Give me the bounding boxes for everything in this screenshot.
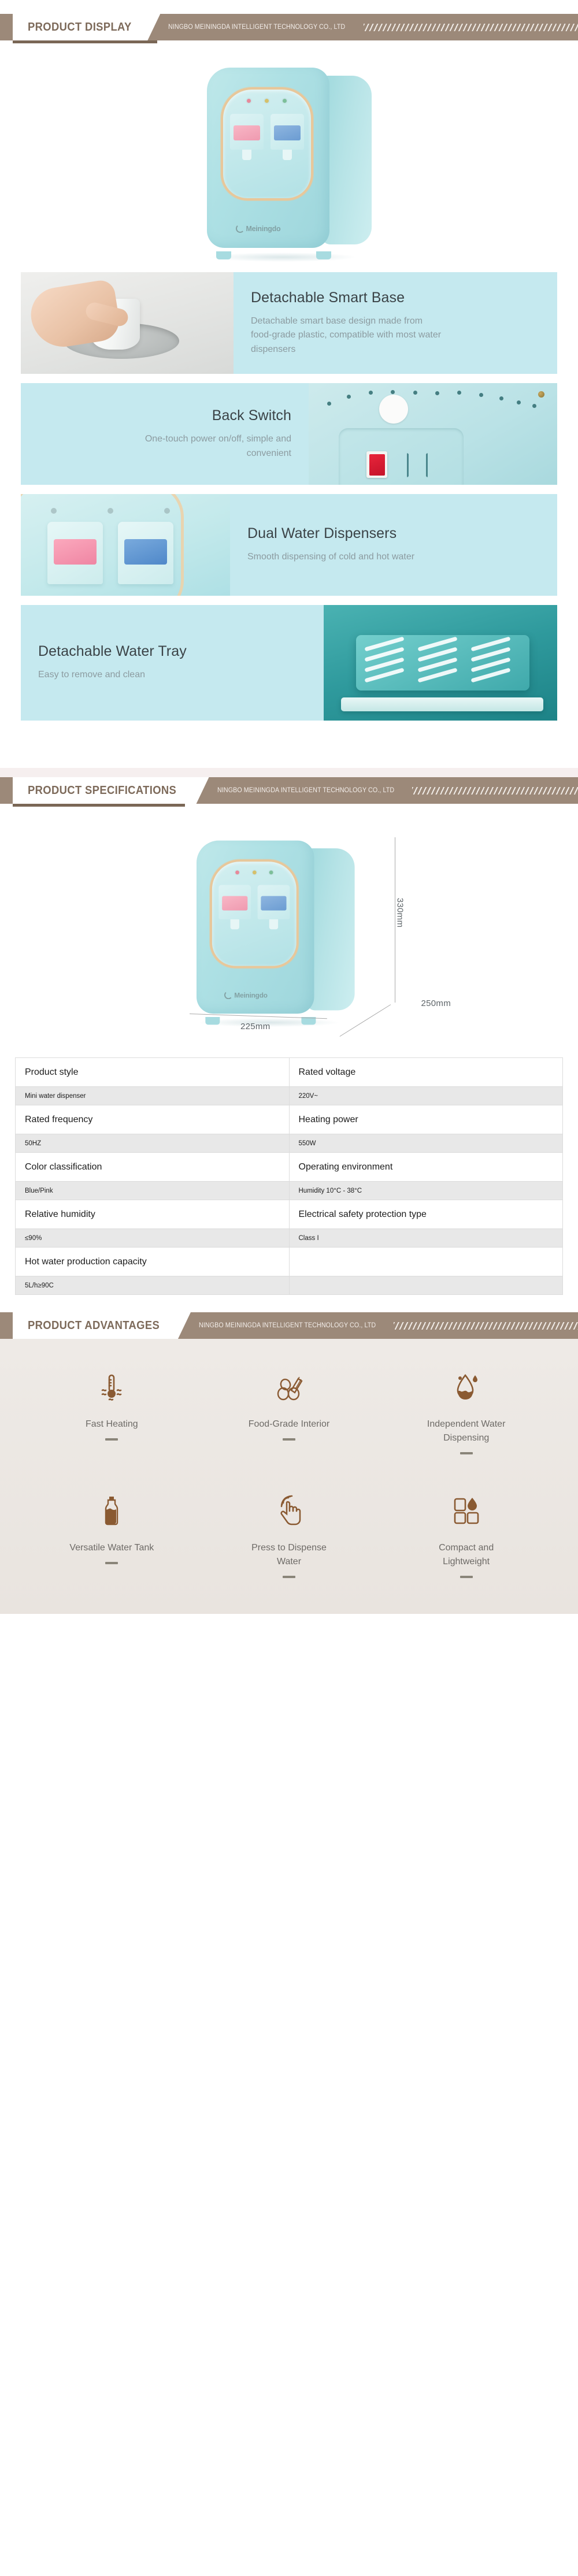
feature-image-dual-taps bbox=[21, 494, 230, 596]
section-title-specifications: PRODUCT SPECIFICATIONS bbox=[28, 784, 176, 797]
heating-indicator-icon bbox=[247, 99, 251, 103]
power-rocker-switch[interactable] bbox=[366, 451, 387, 478]
spec-label: Rated voltage bbox=[289, 1058, 563, 1087]
screw-icon bbox=[538, 391, 544, 398]
spec-value: 50HZ bbox=[16, 1134, 290, 1153]
blocks-icon bbox=[448, 1489, 485, 1532]
section-tab-specifications: PRODUCT SPECIFICATIONS bbox=[13, 777, 209, 804]
dimensions-diagram: Meiningdo 330mm 225mm 250mm bbox=[0, 807, 578, 1055]
table-row: 50HZ 550W bbox=[16, 1134, 563, 1153]
cold-water-lever-closeup[interactable] bbox=[124, 539, 167, 565]
spec-value: Mini water dispenser bbox=[16, 1087, 290, 1105]
hot-water-tap bbox=[218, 885, 251, 919]
company-name-specifications: NINGBO MEININGDA INTELLIGENT TECHNOLOGY … bbox=[217, 777, 394, 804]
ready-indicator-icon bbox=[283, 99, 287, 103]
advantage-versatile-water-tank: Versatile Water Tank bbox=[23, 1489, 201, 1578]
hero-product-image: Meiningdo bbox=[0, 43, 578, 269]
table-row: ≤90% Class I bbox=[16, 1229, 563, 1248]
feature-dual-water-dispensers: Dual Water Dispensers Smooth dispensing … bbox=[21, 494, 557, 596]
dispenser-window bbox=[221, 87, 313, 201]
section-banner-display: PRODUCT DISPLAY NINGBO MEININGDA INTELLI… bbox=[0, 14, 578, 40]
water-bottle-icon bbox=[93, 1489, 130, 1532]
tray-grate bbox=[356, 635, 529, 691]
cold-water-lever bbox=[261, 896, 286, 911]
spec-value: Humidity 10°C - 38°C bbox=[289, 1182, 563, 1200]
feature-title: Detachable Smart Base bbox=[251, 289, 540, 306]
banner-hatch-pattern bbox=[394, 1322, 578, 1330]
press-hand-icon bbox=[271, 1489, 307, 1532]
brand-logo-mark-icon bbox=[224, 991, 232, 999]
spec-label: Color classification bbox=[16, 1153, 290, 1182]
dimensions-product-image: Meiningdo bbox=[197, 836, 355, 1019]
feature-text-water-tray: Detachable Water Tray Easy to remove and… bbox=[21, 605, 324, 721]
feature-detachable-water-tray: Detachable Water Tray Easy to remove and… bbox=[21, 605, 557, 721]
spec-label: Operating environment bbox=[289, 1153, 563, 1182]
water-drop-icon bbox=[448, 1365, 485, 1408]
feature-desc: Easy to remove and clean bbox=[38, 668, 229, 682]
section-banner-specifications: PRODUCT SPECIFICATIONS NINGBO MEININGDA … bbox=[0, 777, 578, 804]
dispenser-tap-row bbox=[230, 114, 304, 150]
spec-label bbox=[289, 1248, 563, 1276]
power-indicator-icon bbox=[252, 871, 256, 875]
tray-front-lip bbox=[341, 697, 543, 711]
section-title-display: PRODUCT DISPLAY bbox=[28, 21, 132, 34]
table-row: Blue/Pink Humidity 10°C - 38°C bbox=[16, 1182, 563, 1200]
hot-water-lever bbox=[222, 896, 247, 911]
section-tab-advantages: PRODUCT ADVANTAGES bbox=[13, 1312, 191, 1339]
hot-water-spout bbox=[242, 150, 251, 160]
dispenser-foot-right bbox=[316, 251, 331, 259]
feature-title: Dual Water Dispensers bbox=[247, 525, 540, 542]
feature-desc: Detachable smart base design made from f… bbox=[251, 314, 442, 357]
feature-desc: Smooth dispensing of cold and hot water bbox=[247, 550, 438, 564]
dispenser-feet bbox=[216, 251, 331, 259]
spec-value bbox=[289, 1276, 563, 1295]
dispenser-foot-left bbox=[216, 251, 231, 259]
certification-sticker bbox=[379, 395, 408, 424]
advantage-divider bbox=[460, 1576, 473, 1578]
spec-label: Hot water production capacity bbox=[16, 1248, 290, 1276]
spec-value: ≤90% bbox=[16, 1229, 290, 1248]
advantage-label: Compact and Lightweight bbox=[423, 1541, 510, 1569]
hot-water-lever[interactable] bbox=[234, 125, 260, 140]
brand-logo-mark-icon bbox=[236, 224, 244, 233]
specs-tint-strip bbox=[0, 768, 578, 777]
feature-text-dual-taps: Dual Water Dispensers Smooth dispensing … bbox=[230, 494, 557, 596]
table-row: Relative humidity Electrical safety prot… bbox=[16, 1200, 563, 1229]
feature-text-back-switch: Back Switch One-touch power on/off, simp… bbox=[21, 383, 309, 485]
cold-water-spout bbox=[283, 150, 292, 160]
brand-logo: Meiningdo bbox=[224, 991, 286, 999]
heating-indicator-icon bbox=[235, 871, 239, 875]
cold-tap-closeup bbox=[118, 522, 173, 584]
spec-label: Relative humidity bbox=[16, 1200, 290, 1229]
company-name-display: NINGBO MEININGDA INTELLIGENT TECHNOLOGY … bbox=[168, 14, 345, 40]
width-dimension-label: 225mm bbox=[240, 1022, 271, 1031]
section-tab-display: PRODUCT DISPLAY bbox=[13, 14, 160, 40]
thermometer-icon bbox=[93, 1365, 130, 1408]
specs-spacer bbox=[0, 743, 578, 768]
advantage-label: Independent Water Dispensing bbox=[423, 1417, 510, 1445]
dispenser-body: Meiningdo bbox=[207, 68, 329, 248]
feature-image-back-switch bbox=[309, 383, 557, 485]
advantage-divider bbox=[460, 1452, 473, 1454]
advantage-label: Food-Grade Interior bbox=[249, 1417, 330, 1431]
cold-water-tap bbox=[258, 885, 290, 919]
table-row: Product style Rated voltage bbox=[16, 1058, 563, 1087]
dispenser-tap-row bbox=[218, 885, 290, 919]
top-spacer bbox=[0, 0, 578, 14]
feature-title: Back Switch bbox=[212, 407, 291, 424]
advantage-label: Fast Heating bbox=[86, 1417, 138, 1431]
advantage-divider bbox=[283, 1576, 295, 1578]
advantage-press-to-dispense: Press to Dispense Water bbox=[201, 1489, 378, 1578]
feature-detachable-smart-base: Detachable Smart Base Detachable smart b… bbox=[21, 272, 557, 374]
advantage-divider bbox=[105, 1562, 118, 1564]
feature-desc: One-touch power on/off, simple and conve… bbox=[101, 432, 291, 461]
advantage-divider bbox=[283, 1438, 295, 1441]
advantage-independent-water-dispensing: Independent Water Dispensing bbox=[377, 1365, 555, 1454]
cold-water-lever[interactable] bbox=[274, 125, 301, 140]
brand-logo-text: Meiningdo bbox=[246, 225, 281, 233]
spec-label: Heating power bbox=[289, 1105, 563, 1134]
hot-water-lever-closeup[interactable] bbox=[54, 539, 97, 565]
spec-value: 5L/h≥90C bbox=[16, 1276, 290, 1295]
advantage-label: Versatile Water Tank bbox=[69, 1541, 154, 1555]
table-row: Hot water production capacity bbox=[16, 1248, 563, 1276]
advantages-section: Fast Heating Food-Grade Interior bbox=[0, 1339, 578, 1614]
banner-hatch-pattern bbox=[412, 787, 578, 795]
spec-value: 550W bbox=[289, 1134, 563, 1153]
feature-panel-list: Detachable Smart Base Detachable smart b… bbox=[0, 269, 578, 743]
spec-label: Rated frequency bbox=[16, 1105, 290, 1134]
grains-icon bbox=[271, 1365, 307, 1408]
table-row: Rated frequency Heating power bbox=[16, 1105, 563, 1134]
advantage-divider bbox=[105, 1438, 118, 1441]
depth-dimension-label: 250mm bbox=[421, 999, 451, 1008]
feature-image-smart-base bbox=[21, 272, 234, 374]
switch-recess-panel bbox=[339, 428, 464, 485]
spec-value: 220V~ bbox=[289, 1087, 563, 1105]
cold-water-tap[interactable] bbox=[271, 114, 304, 150]
advantages-grid: Fast Heating Food-Grade Interior bbox=[23, 1365, 555, 1578]
advantage-food-grade-interior: Food-Grade Interior bbox=[201, 1365, 378, 1454]
height-dimension-label: 330mm bbox=[395, 898, 405, 928]
feature-image-water-tray bbox=[324, 605, 557, 721]
brand-logo: Meiningdo bbox=[236, 224, 299, 233]
indicator-light-row bbox=[223, 99, 311, 103]
dispenser-illustration: Meiningdo bbox=[207, 63, 372, 254]
section-title-advantages: PRODUCT ADVANTAGES bbox=[28, 1319, 160, 1332]
ready-indicator-icon bbox=[269, 871, 273, 875]
table-row: Mini water dispenser 220V~ bbox=[16, 1087, 563, 1105]
advantage-compact-lightweight: Compact and Lightweight bbox=[377, 1489, 555, 1578]
advantage-fast-heating: Fast Heating bbox=[23, 1365, 201, 1454]
banner-hatch-pattern bbox=[364, 24, 578, 31]
table-row: Color classification Operating environme… bbox=[16, 1153, 563, 1182]
spec-label: Electrical safety protection type bbox=[289, 1200, 563, 1229]
company-name-advantages: NINGBO MEININGDA INTELLIGENT TECHNOLOGY … bbox=[199, 1312, 376, 1339]
spec-value: Class I bbox=[289, 1229, 563, 1248]
dispenser-body: Meiningdo bbox=[197, 841, 314, 1014]
hot-tap-closeup bbox=[47, 522, 103, 584]
ventilation-holes bbox=[323, 390, 543, 410]
table-row: 5L/h≥90C bbox=[16, 1276, 563, 1295]
feature-title: Detachable Water Tray bbox=[38, 643, 306, 660]
spec-label: Product style bbox=[16, 1058, 290, 1087]
power-socket-icon bbox=[407, 452, 428, 478]
feature-text-smart-base: Detachable Smart Base Detachable smart b… bbox=[234, 272, 557, 374]
indicator-dot-row bbox=[51, 508, 170, 514]
dispenser-window bbox=[210, 859, 299, 968]
feature-back-switch: Back Switch One-touch power on/off, simp… bbox=[21, 383, 557, 485]
power-indicator-icon bbox=[265, 99, 269, 103]
specifications-table: Product style Rated voltage Mini water d… bbox=[15, 1057, 563, 1295]
hot-water-tap[interactable] bbox=[230, 114, 264, 150]
section-banner-advantages: PRODUCT ADVANTAGES NINGBO MEININGDA INTE… bbox=[0, 1312, 578, 1339]
spec-value: Blue/Pink bbox=[16, 1182, 290, 1200]
advantage-label: Press to Dispense Water bbox=[246, 1541, 332, 1569]
brand-logo-text: Meiningdo bbox=[234, 991, 267, 999]
indicator-light-row bbox=[212, 871, 297, 875]
